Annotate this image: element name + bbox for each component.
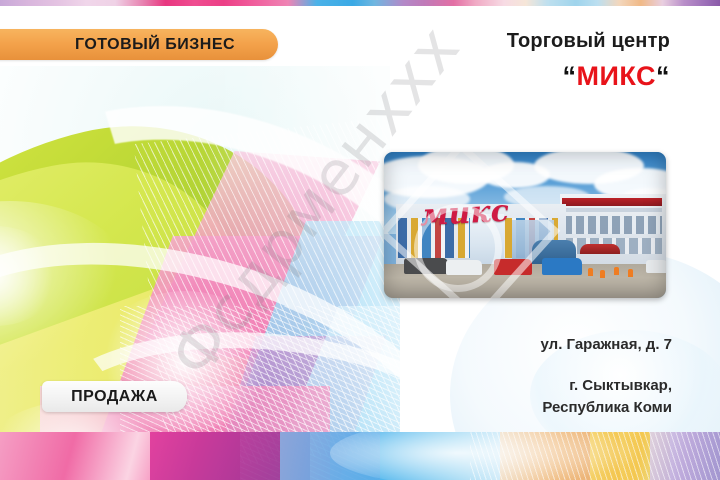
mall-name: МИКС bbox=[576, 61, 656, 91]
header-block: Торговый центр “МИКС“ bbox=[507, 30, 670, 92]
ready-business-badge-label: ГОТОВЫЙ БИЗНЕС bbox=[75, 36, 235, 54]
header-title: “МИКС“ bbox=[507, 61, 670, 92]
address-region: Республика Коми bbox=[541, 397, 672, 419]
quote-close-glyph: “ bbox=[656, 61, 670, 91]
quote-open-glyph: “ bbox=[562, 61, 576, 91]
header-subtitle: Торговый центр bbox=[507, 30, 670, 53]
address-city: г. Сыктывкар, bbox=[541, 375, 672, 397]
address-block: ул. Гаражная, д. 7 г. Сыктывкар, Республ… bbox=[541, 336, 672, 419]
address-city-region: г. Сыктывкар, Республика Коми bbox=[541, 375, 672, 419]
photo-vignette bbox=[384, 152, 666, 298]
address-street: ул. Гаражная, д. 7 bbox=[541, 336, 672, 353]
for-sale-badge[interactable]: ПРОДАЖА bbox=[42, 381, 187, 412]
poster-canvas: Фсдрменххх ГОТОВЫЙ БИЗНЕС ПРОДАЖА Торгов… bbox=[0, 0, 720, 480]
for-sale-badge-label: ПРОДАЖА bbox=[71, 388, 158, 406]
mall-photo[interactable]: микс bbox=[384, 152, 666, 298]
ready-business-badge[interactable]: ГОТОВЫЙ БИЗНЕС bbox=[0, 29, 278, 60]
